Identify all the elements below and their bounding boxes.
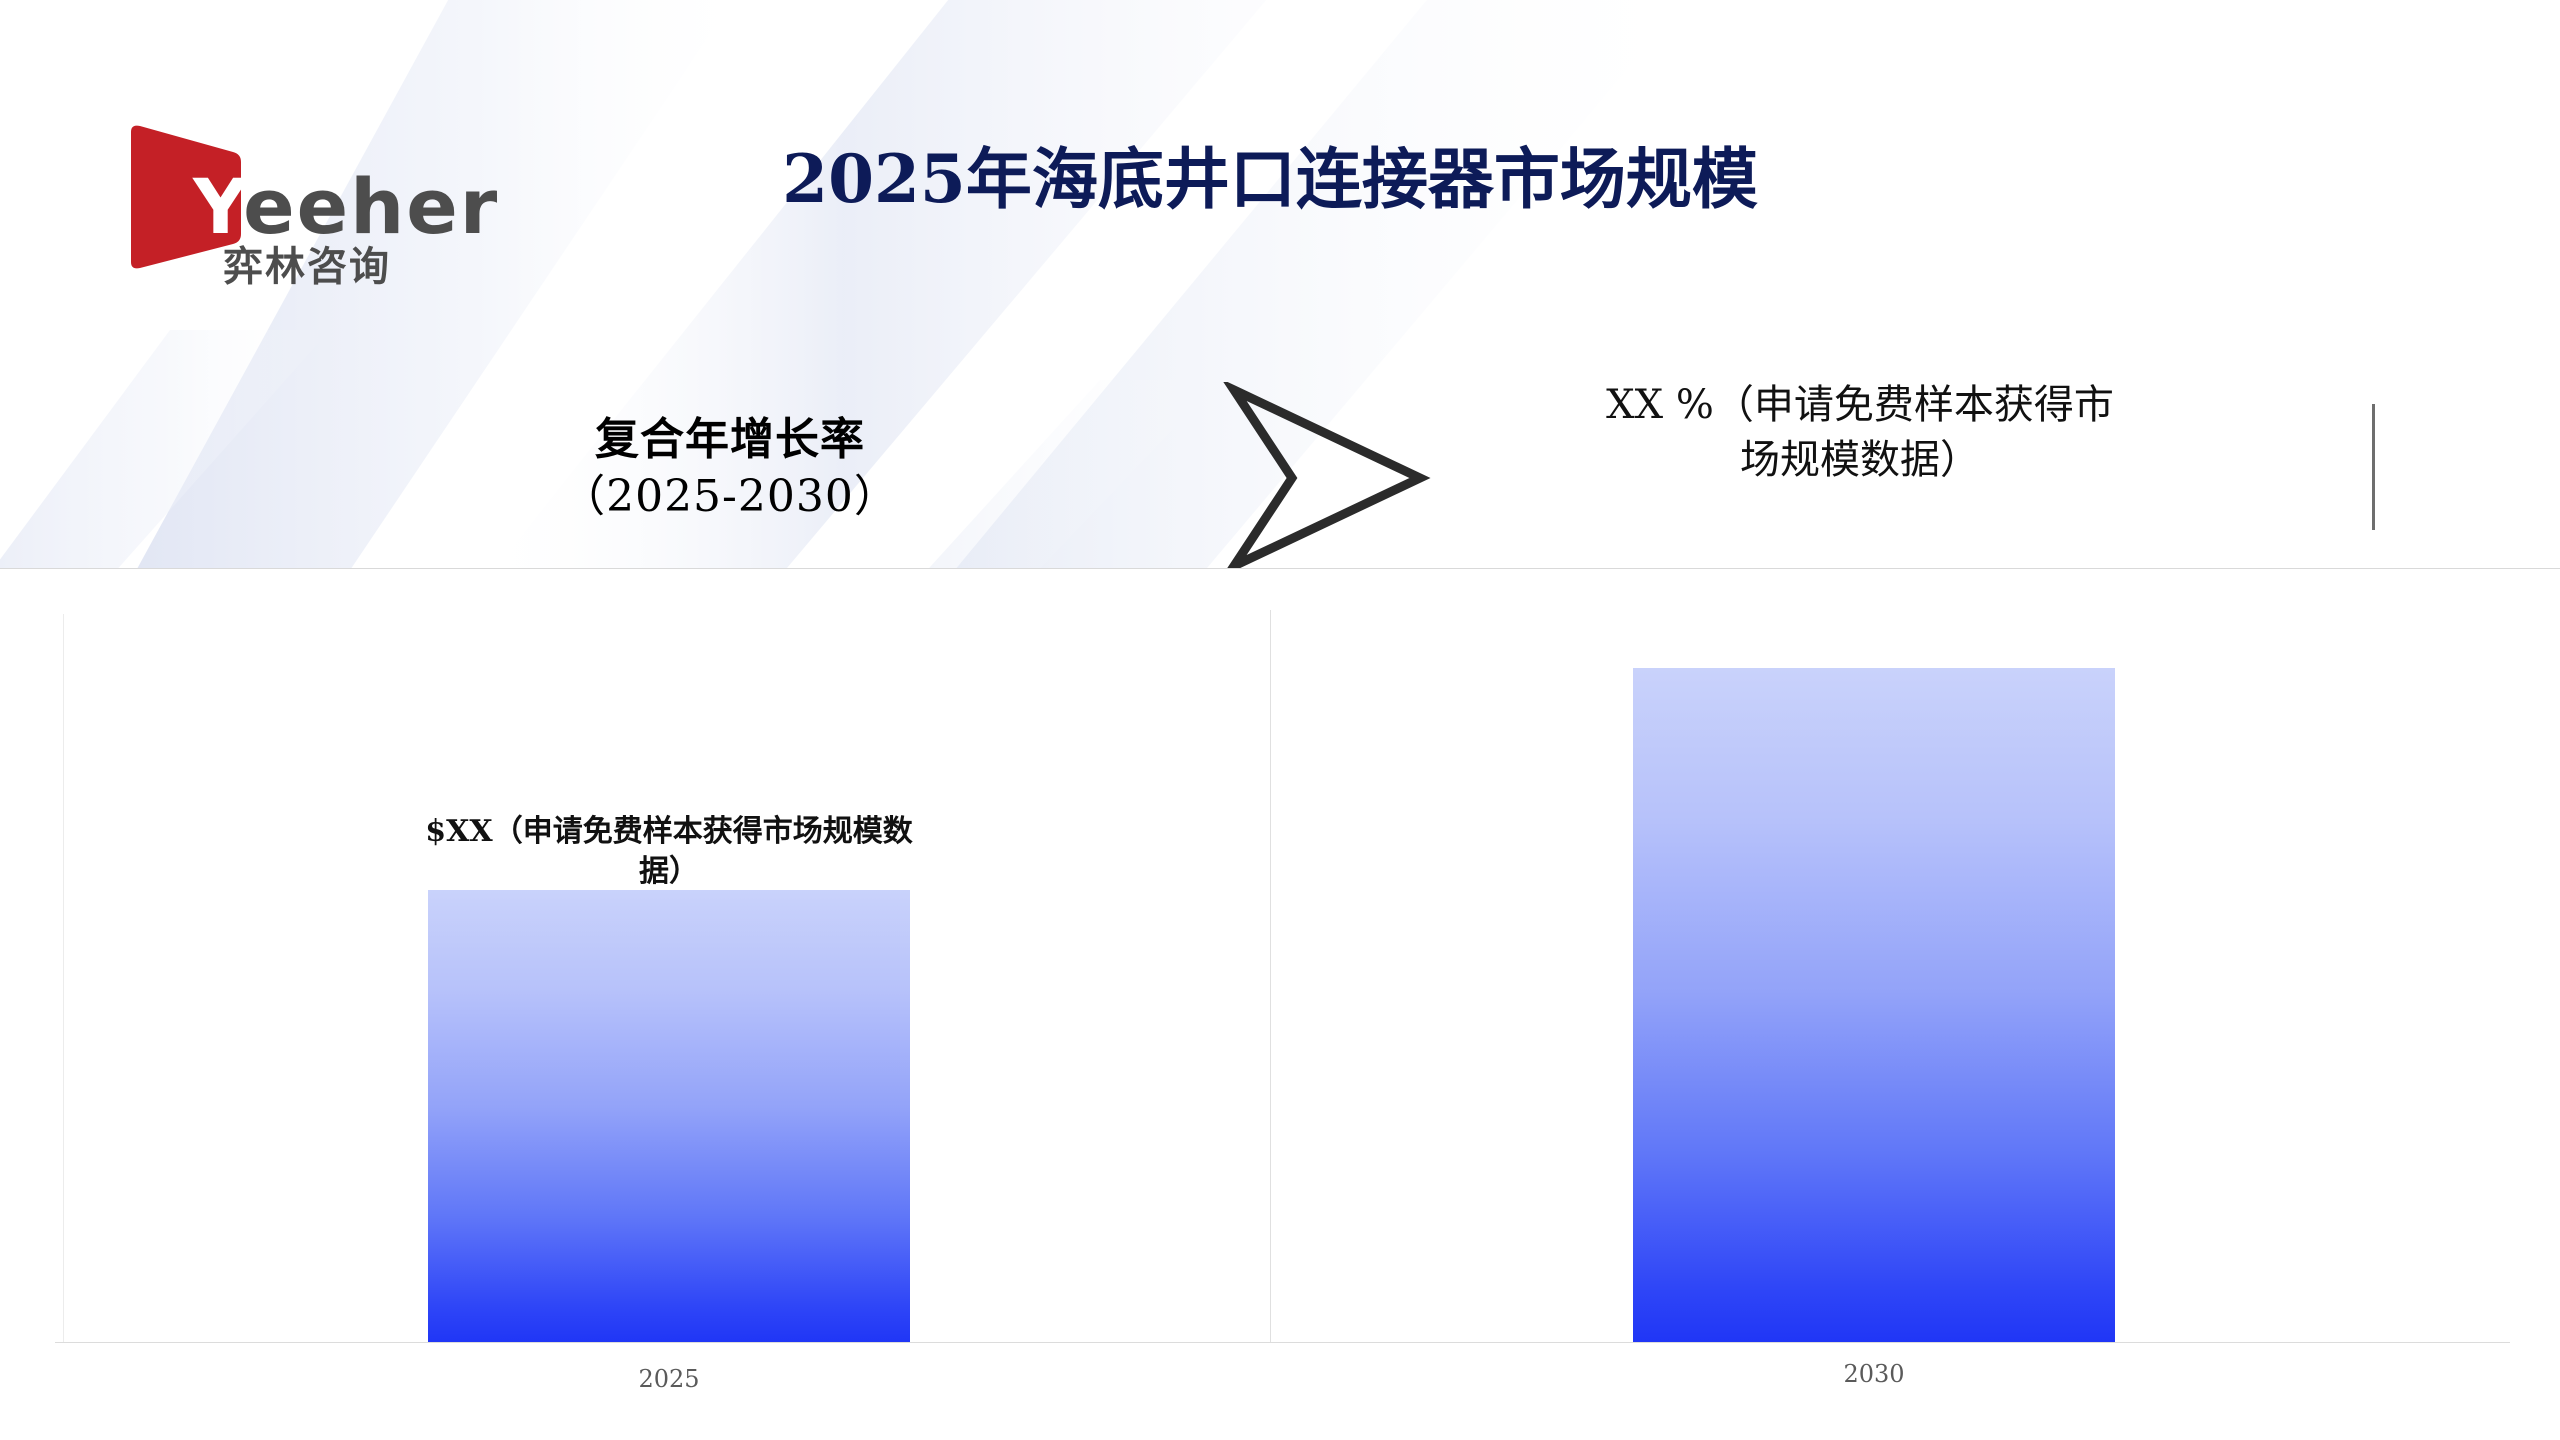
bar-2025 — [428, 890, 910, 1342]
header-area: Yeeher 弈林咨询 2025年海底井口连接器市场规模 复合年增长率 （202… — [0, 0, 2560, 569]
chart-center-divider — [1270, 610, 1271, 1343]
logo-subtitle: 弈林咨询 — [223, 245, 391, 289]
bar-chart: $XX（申请免费样本获得市场规模数据） 2025 2030 — [0, 569, 2560, 1440]
cagr-period: （2025-2030） — [460, 468, 1000, 526]
header-vertical-divider — [2372, 404, 2375, 530]
cagr-heading: 复合年增长率 — [460, 412, 1000, 468]
logo-lead-letter: Y — [193, 162, 243, 251]
axis-tick-label-2030: 2030 — [1724, 1359, 2024, 1389]
bar-value-label-2025: $XX（申请免费样本获得市场规模数据） — [419, 812, 919, 892]
brand-logo: Yeeher 弈林咨询 — [125, 122, 470, 302]
page-title: 2025年海底井口连接器市场规模 — [640, 140, 1900, 218]
cagr-value-text: XX %（申请免费样本获得市场规模数据） — [1600, 378, 2120, 488]
axis-tick-label-2025: 2025 — [519, 1364, 819, 1394]
logo-wordmark: Yeeher — [193, 169, 499, 245]
bar-2030 — [1633, 668, 2115, 1342]
arrow-right-outline-icon — [1222, 382, 1432, 574]
chart-baseline-axis — [55, 1342, 2510, 1343]
cagr-label-block: 复合年增长率 （2025-2030） — [460, 412, 1000, 526]
slide-canvas: Yeeher 弈林咨询 2025年海底井口连接器市场规模 复合年增长率 （202… — [0, 0, 2560, 1440]
logo-rest-letters: eeher — [243, 162, 499, 251]
chart-left-border — [63, 614, 64, 1343]
